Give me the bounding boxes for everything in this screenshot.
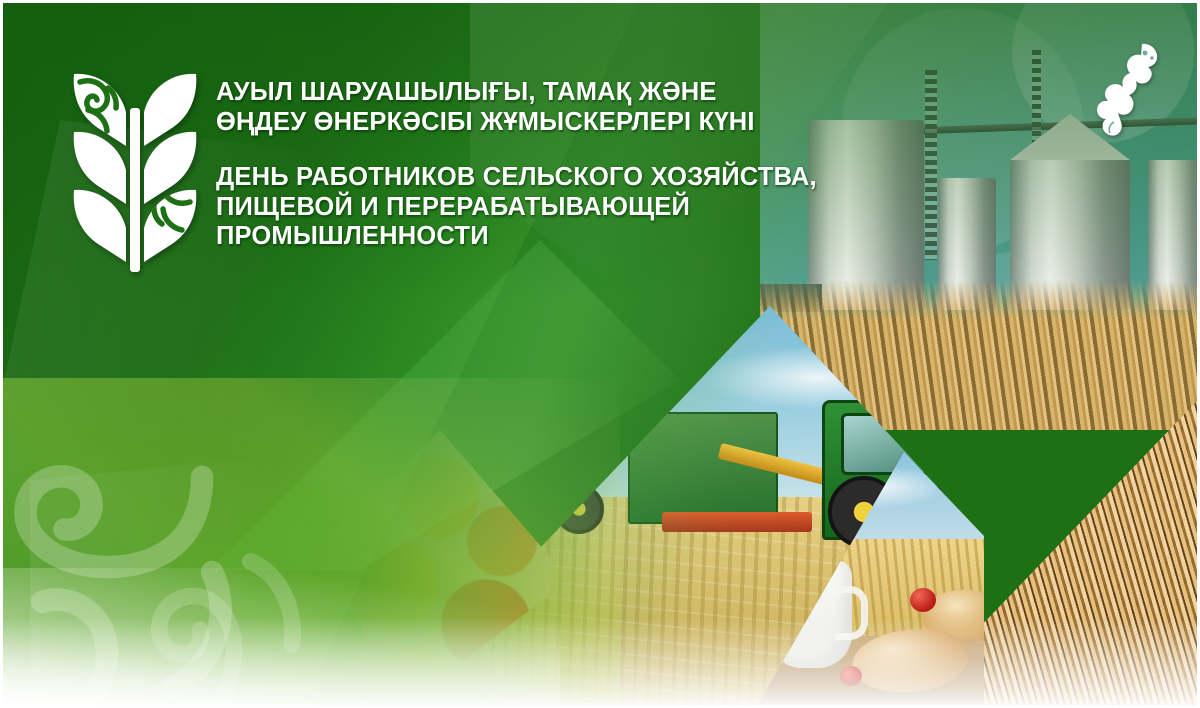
title-block: АУЫЛ ШАРУАШЫЛЫҒЫ, ТАМАҚ ЖӘНЕ ӨҢДЕУ ӨНЕРК… — [216, 78, 936, 252]
title-russian-line-2: ПИЩЕВОЙ И ПЕРЕРАБАТЫВАЮЩЕЙ — [216, 193, 936, 223]
title-kazakh-line-2: ӨҢДЕУ ӨНЕРКӘСІБІ ЖҰМЫСКЕРЛЕРІ КҮНІ — [216, 108, 936, 138]
wheat-ear-emblem-icon — [64, 62, 206, 280]
barys-ornament-icon — [1094, 38, 1168, 156]
title-kazakh: АУЫЛ ШАРУАШЫЛЫҒЫ, ТАМАҚ ЖӘНЕ ӨҢДЕУ ӨНЕРК… — [216, 78, 936, 137]
title-russian: ДЕНЬ РАБОТНИКОВ СЕЛЬСКОГО ХОЗЯЙСТВА, ПИЩ… — [216, 163, 936, 252]
title-kazakh-line-1: АУЫЛ ШАРУАШЫЛЫҒЫ, ТАМАҚ ЖӘНЕ — [216, 78, 936, 108]
bottom-fade — [0, 618, 1200, 708]
title-russian-line-3: ПРОМЫШЛЕННОСТИ — [216, 222, 936, 252]
poster-canvas: АУЫЛ ШАРУАШЫЛЫҒЫ, ТАМАҚ ЖӘНЕ ӨҢДЕУ ӨНЕРК… — [0, 0, 1200, 708]
title-russian-line-1: ДЕНЬ РАБОТНИКОВ СЕЛЬСКОГО ХОЗЯЙСТВА, — [216, 163, 936, 193]
